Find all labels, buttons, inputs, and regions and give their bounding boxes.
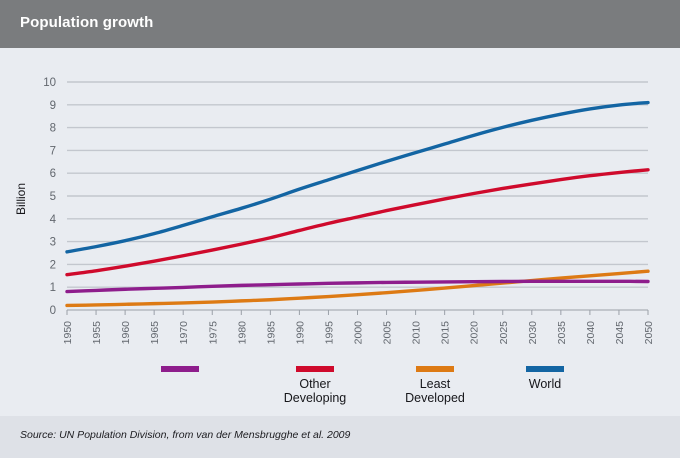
y-axis-title: Billion <box>14 154 28 244</box>
x-tick-2010: 2010 <box>411 321 423 345</box>
chart-header-bar: Population growth <box>0 0 680 48</box>
x-tick-2035: 2035 <box>556 321 568 345</box>
legend-swatch-developed <box>161 366 199 372</box>
gridlines-group <box>67 82 648 310</box>
y-tick-2: 2 <box>50 259 56 271</box>
legend-label-other-developing: Other <box>250 377 380 391</box>
legend-item-other-developing: Other Developing <box>250 366 380 405</box>
x-tick-2040: 2040 <box>585 321 597 345</box>
y-tick-8: 8 <box>50 123 56 135</box>
x-tick-labels-group: 1950195519601965197019751980198519901995… <box>62 321 655 345</box>
y-tick-0: 0 <box>50 305 56 317</box>
x-tick-2020: 2020 <box>469 321 481 345</box>
legend-swatch-world <box>526 366 564 372</box>
series-line-world <box>67 103 648 252</box>
x-tick-1990: 1990 <box>294 321 306 345</box>
x-tick-1965: 1965 <box>149 321 161 345</box>
line-chart-svg: 012345678910 195019551960196519701975198… <box>0 48 680 410</box>
legend-item-developed <box>115 366 245 377</box>
y-tick-6: 6 <box>50 168 56 180</box>
y-tick-5: 5 <box>50 191 56 203</box>
x-tick-2000: 2000 <box>353 321 365 345</box>
chart-title: Population growth <box>20 14 153 31</box>
legend-swatch-other-developing <box>296 366 334 372</box>
series-line-developed <box>67 281 648 291</box>
legend-swatch-least-developed <box>416 366 454 372</box>
source-caption: Source: UN Population Division, from van… <box>20 429 350 441</box>
legend-item-world: World <box>480 366 610 391</box>
y-tick-4: 4 <box>50 214 57 226</box>
series-line-other-developing <box>67 170 648 275</box>
x-tick-2045: 2045 <box>614 321 626 345</box>
legend-label-world: World <box>480 377 610 391</box>
x-tick-1955: 1955 <box>91 321 103 345</box>
x-tick-2030: 2030 <box>527 321 539 345</box>
y-tick-labels-group: 012345678910 <box>43 77 56 317</box>
x-tick-1970: 1970 <box>178 321 190 345</box>
source-strip: Source: UN Population Division, from van… <box>0 416 680 458</box>
y-tick-7: 7 <box>50 145 56 157</box>
legend-label-other-developing-2: Developing <box>250 391 380 405</box>
x-tick-1995: 1995 <box>323 321 335 345</box>
legend-label-least-developed-2: Developed <box>370 391 500 405</box>
x-tick-2005: 2005 <box>382 321 394 345</box>
x-tick-2015: 2015 <box>440 321 452 345</box>
x-tick-2050: 2050 <box>643 321 655 345</box>
x-tick-1980: 1980 <box>236 321 248 345</box>
plot-area: 012345678910 195019551960196519701975198… <box>0 48 680 410</box>
chart-legend: Other Developing Least Developed World <box>0 366 680 410</box>
x-tick-2025: 2025 <box>498 321 510 345</box>
y-tick-10: 10 <box>43 77 56 89</box>
series-lines-group <box>67 103 648 306</box>
x-tick-marks-group <box>67 310 648 315</box>
x-tick-1960: 1960 <box>120 321 132 345</box>
x-tick-1985: 1985 <box>265 321 277 345</box>
y-tick-3: 3 <box>50 237 56 249</box>
x-tick-1975: 1975 <box>207 321 219 345</box>
y-tick-1: 1 <box>50 282 56 294</box>
y-tick-9: 9 <box>50 100 56 112</box>
population-growth-figure: Population growth 012345678910 195019551… <box>0 0 680 458</box>
x-tick-1950: 1950 <box>62 321 74 345</box>
